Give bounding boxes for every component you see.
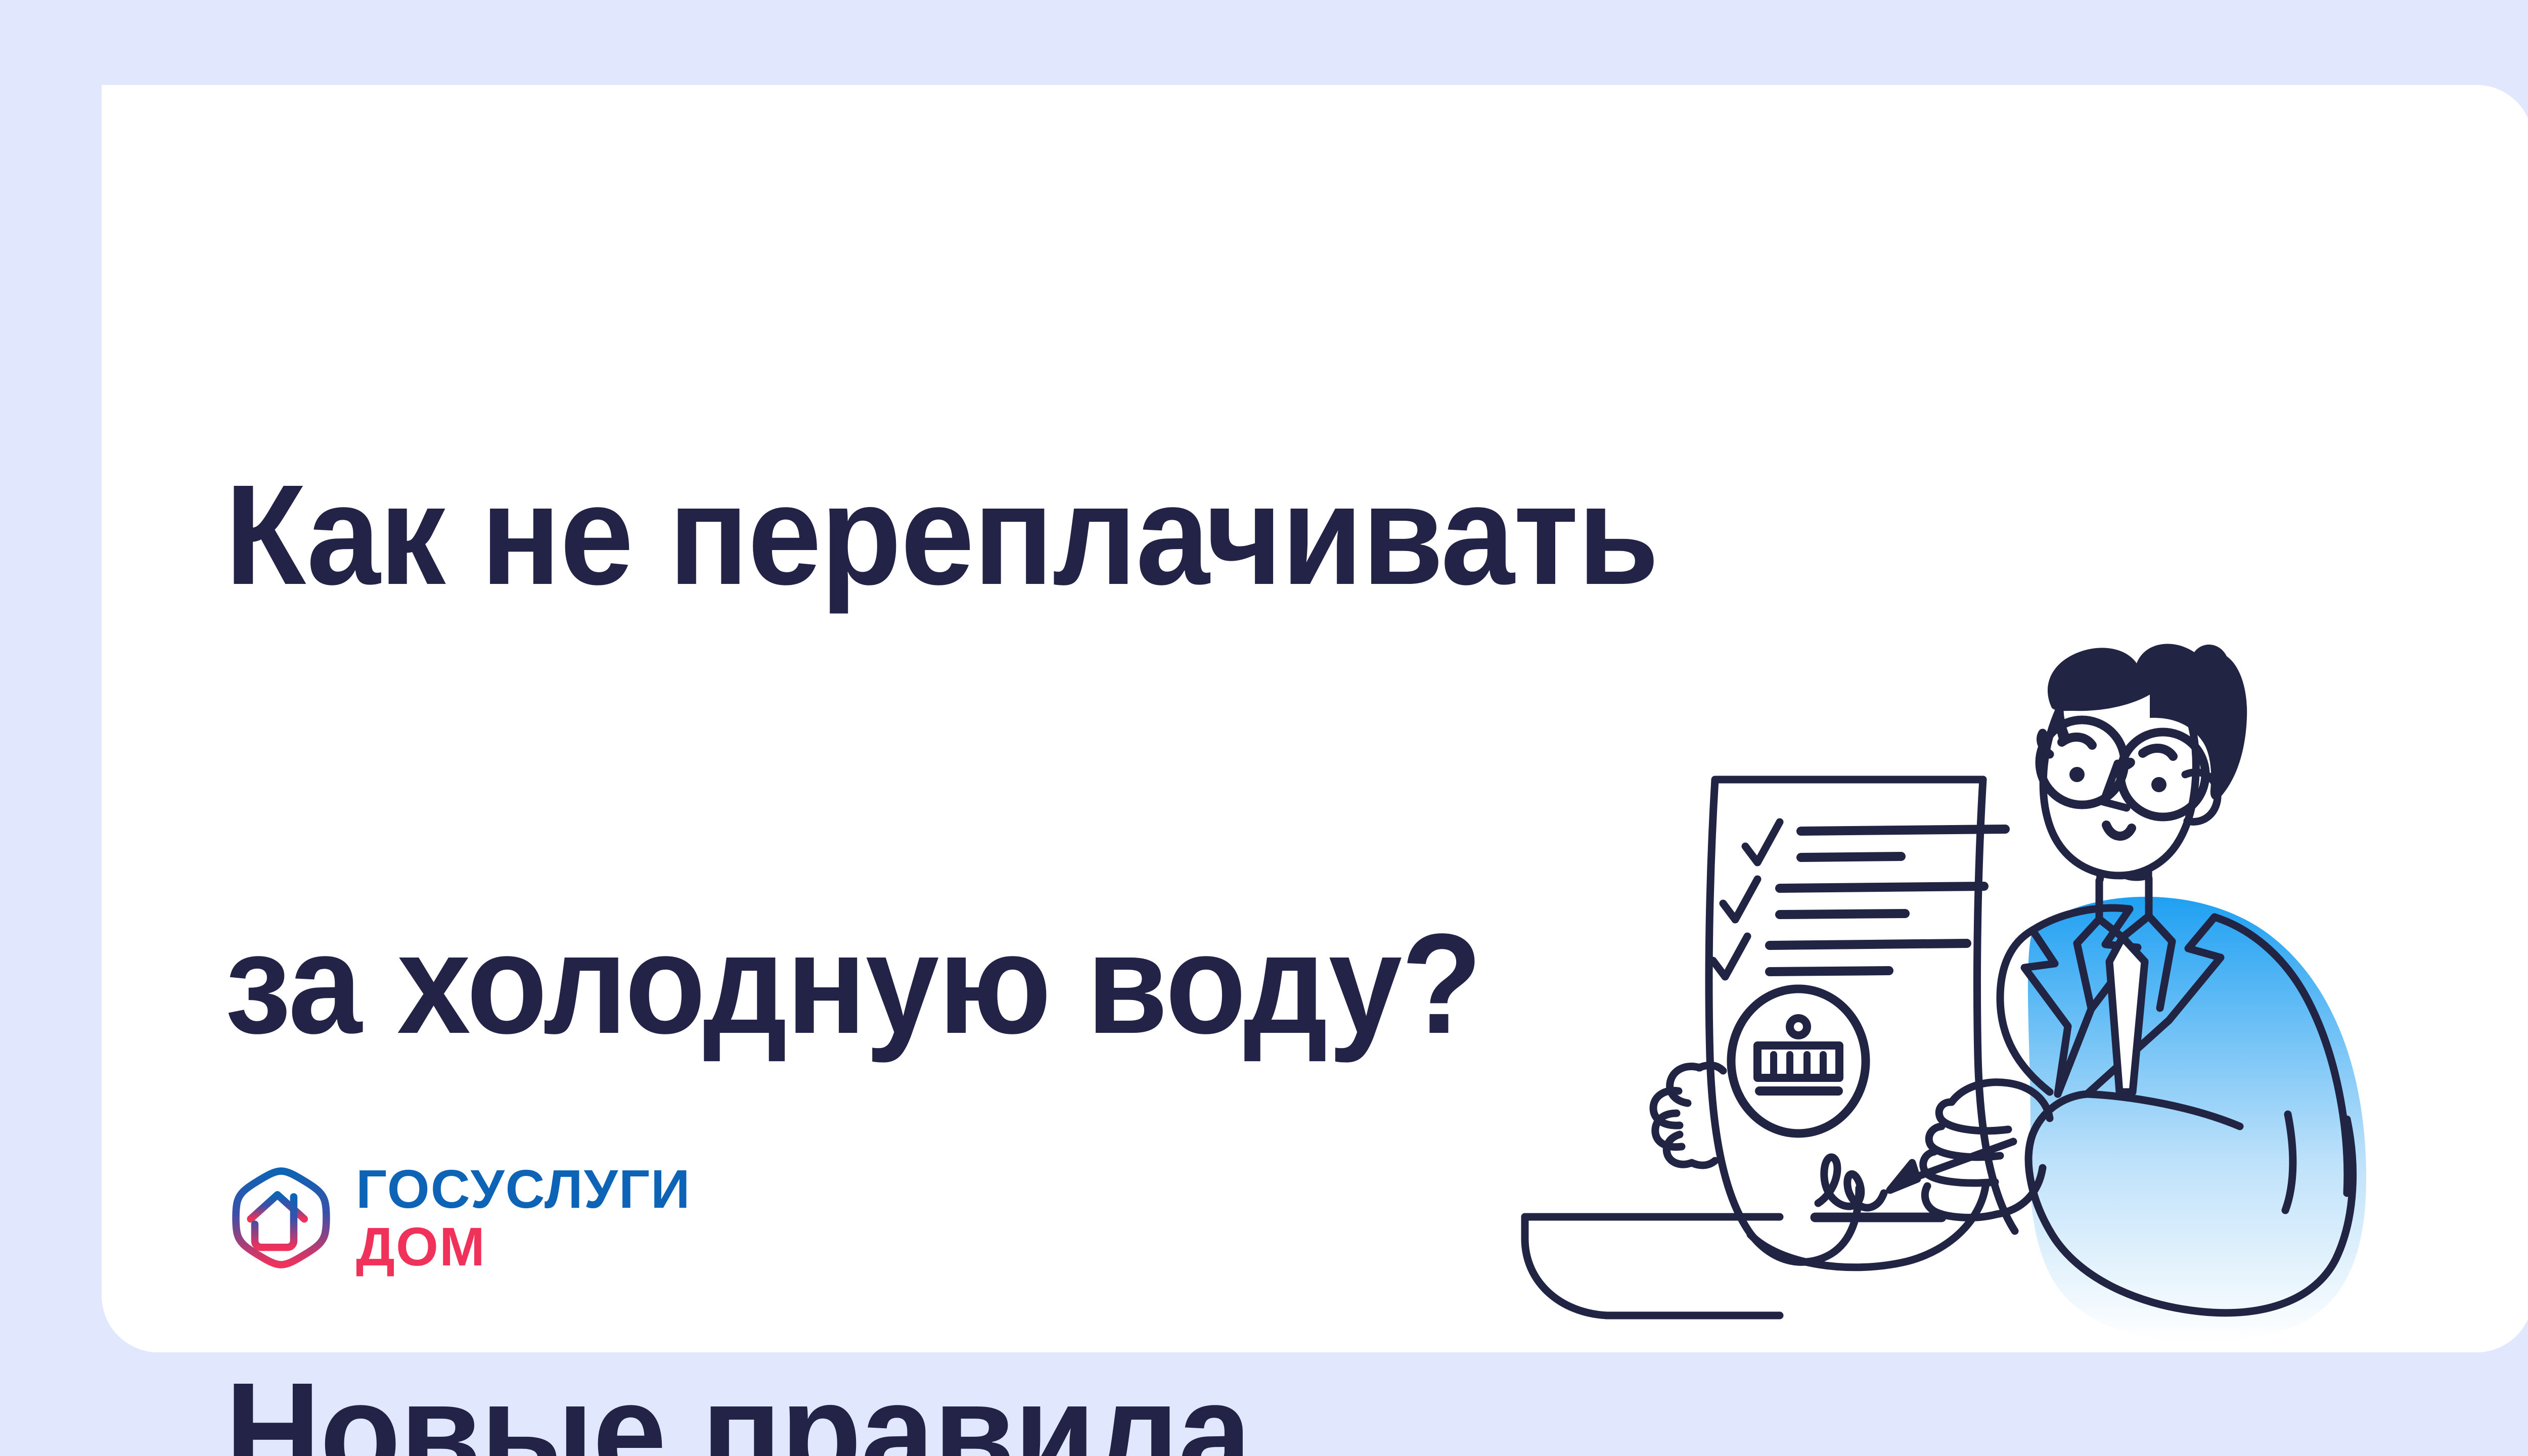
checklist-line-2b — [1780, 914, 1905, 915]
eye-right — [2151, 777, 2166, 792]
document-right-edge — [1977, 780, 2015, 1231]
eye-left — [2069, 767, 2085, 782]
pen-tip — [1890, 1163, 1917, 1190]
poster-canvas: Как не переплачивать за холодную воду? Н… — [0, 0, 2528, 1456]
checklist-line-1b — [1801, 856, 1901, 857]
brand-wordmark: ГОСУСЛУГИ ДОМ — [356, 1163, 691, 1272]
brand-logo[interactable]: ГОСУСЛУГИ ДОМ — [229, 1163, 691, 1272]
man-signing-document-illustration — [1497, 581, 2427, 1355]
title-line-2: за холодную воду? — [225, 909, 1683, 1059]
house-hexagon-icon — [229, 1165, 334, 1270]
bowl-shape — [1525, 1217, 1780, 1315]
illustration-svg — [1497, 581, 2427, 1355]
title-line-3: Новые правила оплаты — [225, 1358, 1683, 1456]
title-line-1: Как не переплачивать — [225, 460, 1683, 610]
checklist-line-3a — [1770, 943, 1967, 945]
checklist-line-3b — [1770, 971, 1889, 972]
brand-word-dom: ДОМ — [356, 1220, 691, 1273]
checklist-line-2a — [1780, 886, 1984, 888]
brand-word-gosuslugi: ГОСУСЛУГИ — [356, 1163, 691, 1215]
checklist-line-1a — [1801, 829, 2005, 831]
